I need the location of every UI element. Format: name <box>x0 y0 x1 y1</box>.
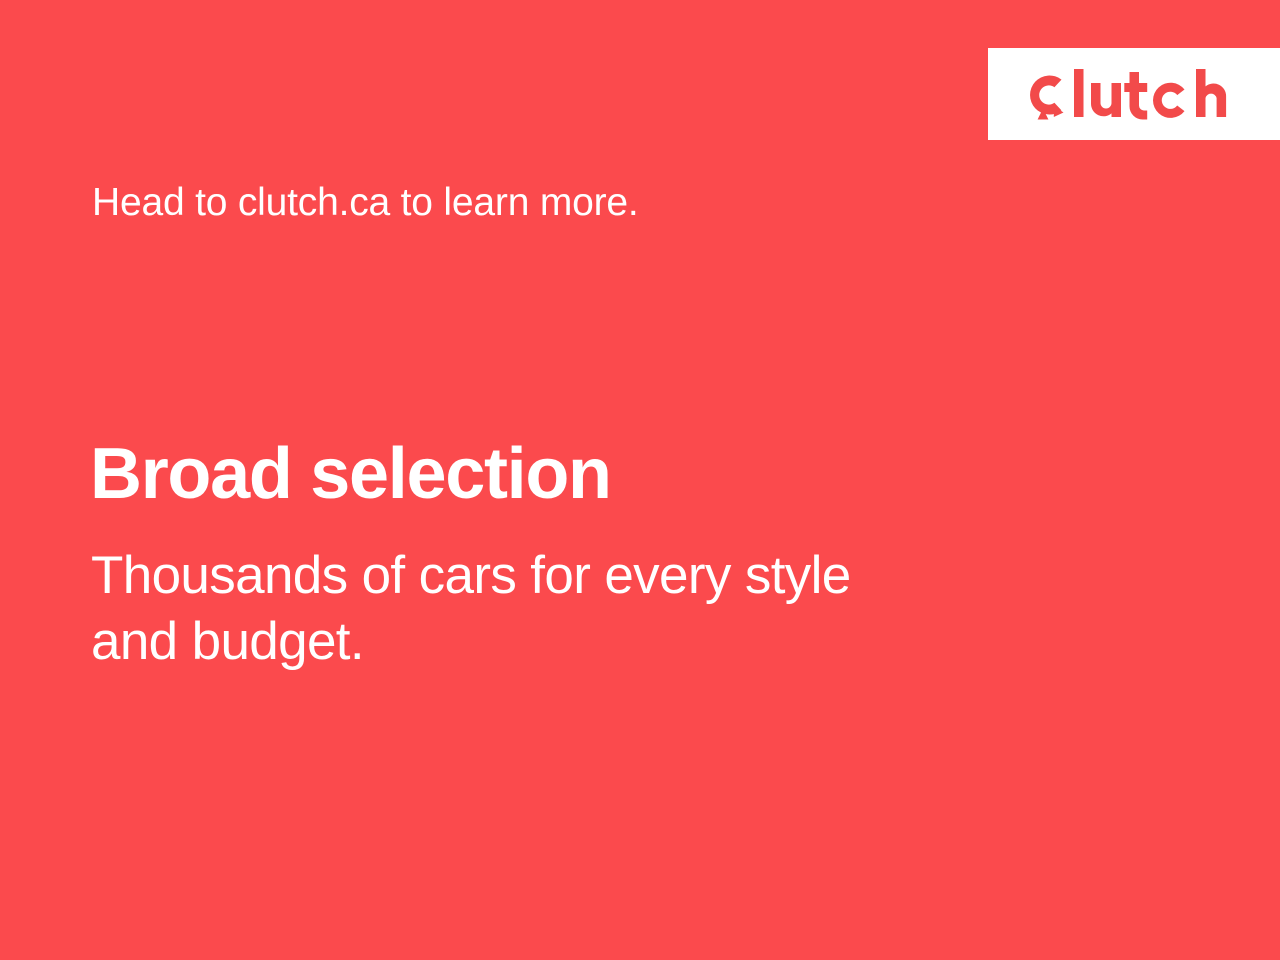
clutch-logo-lockup <box>1020 66 1238 122</box>
clutch-c-mark-icon <box>1020 68 1070 122</box>
subheadline: Thousands of cars for every style and bu… <box>91 543 1051 674</box>
clutch-wordmark <box>1074 68 1238 122</box>
subheadline-line-1: Thousands of cars for every style <box>91 543 1051 609</box>
headline: Broad selection <box>90 437 611 512</box>
eyebrow-text: Head to clutch.ca to learn more. <box>92 180 639 226</box>
promo-slide: Head to clutch.ca to learn more. Broad s… <box>0 0 1280 960</box>
subheadline-line-2: and budget. <box>91 609 1051 675</box>
brand-logo-plate <box>988 48 1280 140</box>
